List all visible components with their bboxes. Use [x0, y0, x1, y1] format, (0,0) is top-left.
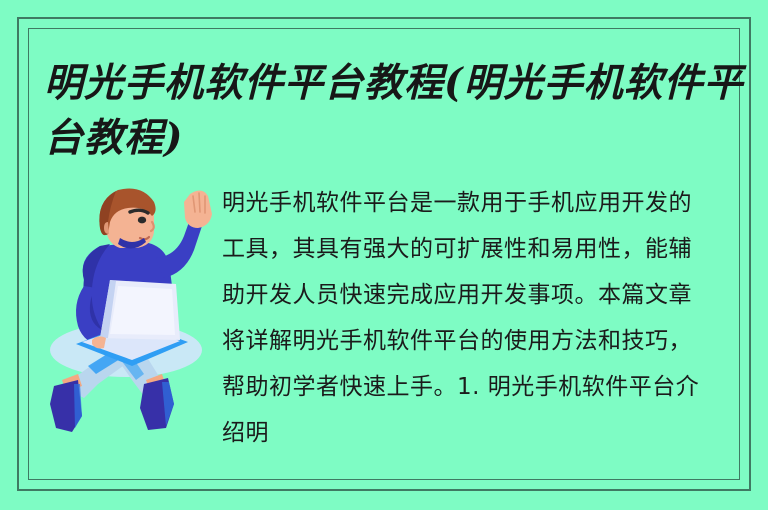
laptop-screen-inner-shape	[110, 286, 175, 335]
hand-waving-shape	[184, 190, 212, 228]
head-shape	[99, 189, 155, 249]
illustration-person-with-laptop	[48, 188, 214, 434]
eye-shape	[138, 217, 146, 224]
page-title: 明光手机软件平台教程(明光手机软件平台教程)	[44, 56, 744, 166]
body-paragraph: 明光手机软件平台是一款用于手机应用开发的工具，其具有强大的可扩展性和易用性，能辅…	[222, 180, 714, 456]
poster-canvas: 明光手机软件平台教程(明光手机软件平台教程)	[0, 0, 768, 510]
